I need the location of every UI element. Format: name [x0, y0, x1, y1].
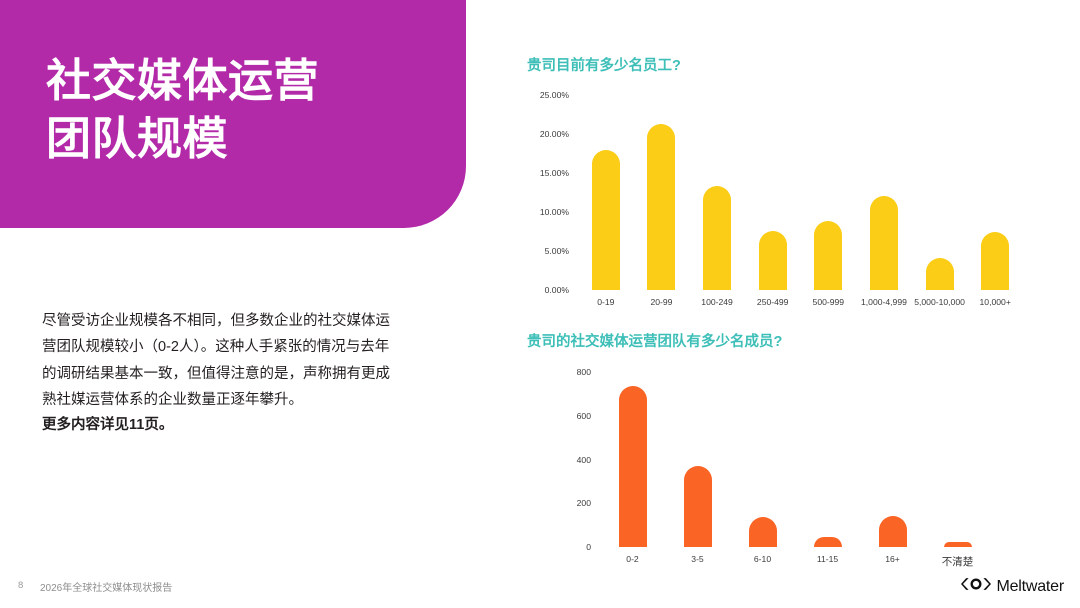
chart-0-bar	[703, 186, 731, 290]
chart-0-bar	[870, 196, 898, 290]
chart-0-bar	[926, 258, 954, 290]
chart-0-ytick: 20.00%	[540, 129, 578, 139]
chart-0-xtick: 10,000+	[980, 297, 1011, 307]
chart-1-bar	[879, 516, 907, 547]
chart-2-title: 贵司的社交媒体运营团队有多少名成员?	[527, 330, 782, 351]
chart-0-ytick: 15.00%	[540, 168, 578, 178]
chart-0-ytick: 5.00%	[545, 246, 578, 256]
chart-1-bar	[749, 517, 777, 547]
chart-0-bar	[647, 124, 675, 290]
chart-0-ytick: 0.00%	[545, 285, 578, 295]
chart-1-ytick: 400	[577, 455, 600, 465]
chart-1-plot: 0.00%5.00%10.00%15.00%20.00%25.00%0-1920…	[578, 95, 1023, 290]
chart-0-xtick: 250-499	[757, 297, 789, 307]
body-paragraph: 尽管受访企业规模各不相同，但多数企业的社交媒体运 营团队规模较小（0-2人）。这…	[42, 308, 462, 414]
chart-0-xtick: 500-999	[813, 297, 845, 307]
chart-0-xtick: 100-249	[701, 297, 733, 307]
body-callout: 更多内容详见11页。	[42, 412, 462, 438]
chart-1-ytick: 0	[586, 542, 600, 552]
meltwater-chevron-icon	[961, 576, 991, 597]
chart-1-xtick: 16+	[885, 554, 900, 564]
chart-1-ytick: 800	[577, 367, 600, 377]
footer-report-title: 2026年全球社交媒体现状报告	[40, 579, 172, 594]
chart-1-title: 贵司目前有多少名员工?	[527, 54, 681, 75]
chart-1-bar	[814, 537, 842, 548]
chart-1-xtick: 0-2	[626, 554, 638, 564]
chart-1-ytick: 600	[577, 411, 600, 421]
chart-0-ytick: 10.00%	[540, 207, 578, 217]
footer-page-number: 8	[18, 580, 23, 591]
chart-1-bar	[619, 386, 647, 547]
meltwater-wordmark: Meltwater	[996, 578, 1064, 596]
chart-0-bar	[814, 221, 842, 290]
page-title: 社交媒体运营 团队规模	[46, 52, 319, 167]
chart-1-xtick: 不清楚	[942, 554, 974, 569]
chart-1-xtick: 11-15	[817, 554, 838, 564]
chart-0-xtick: 1,000-4,999	[861, 297, 907, 307]
chart-0-bar	[981, 232, 1009, 291]
meltwater-logo: Meltwater	[961, 576, 1064, 597]
chart-0-ytick: 25.00%	[540, 90, 578, 100]
chart-0-bar	[759, 231, 787, 290]
chart-0-bar	[592, 150, 620, 290]
chart-1-ytick: 200	[577, 498, 600, 508]
chart-1-bar	[944, 542, 972, 547]
chart-0-xtick: 5,000-10,000	[914, 297, 965, 307]
chart-1-xtick: 6-10	[754, 554, 771, 564]
title-panel: 社交媒体运营 团队规模	[0, 0, 466, 228]
chart-1-xtick: 3-5	[691, 554, 703, 564]
chart-2-plot: 02004006008000-23-56-1011-1516+不清楚	[600, 372, 990, 547]
chart-0-xtick: 0-19	[597, 297, 614, 307]
chart-1-bar	[684, 466, 712, 547]
chart-0-xtick: 20-99	[650, 297, 672, 307]
